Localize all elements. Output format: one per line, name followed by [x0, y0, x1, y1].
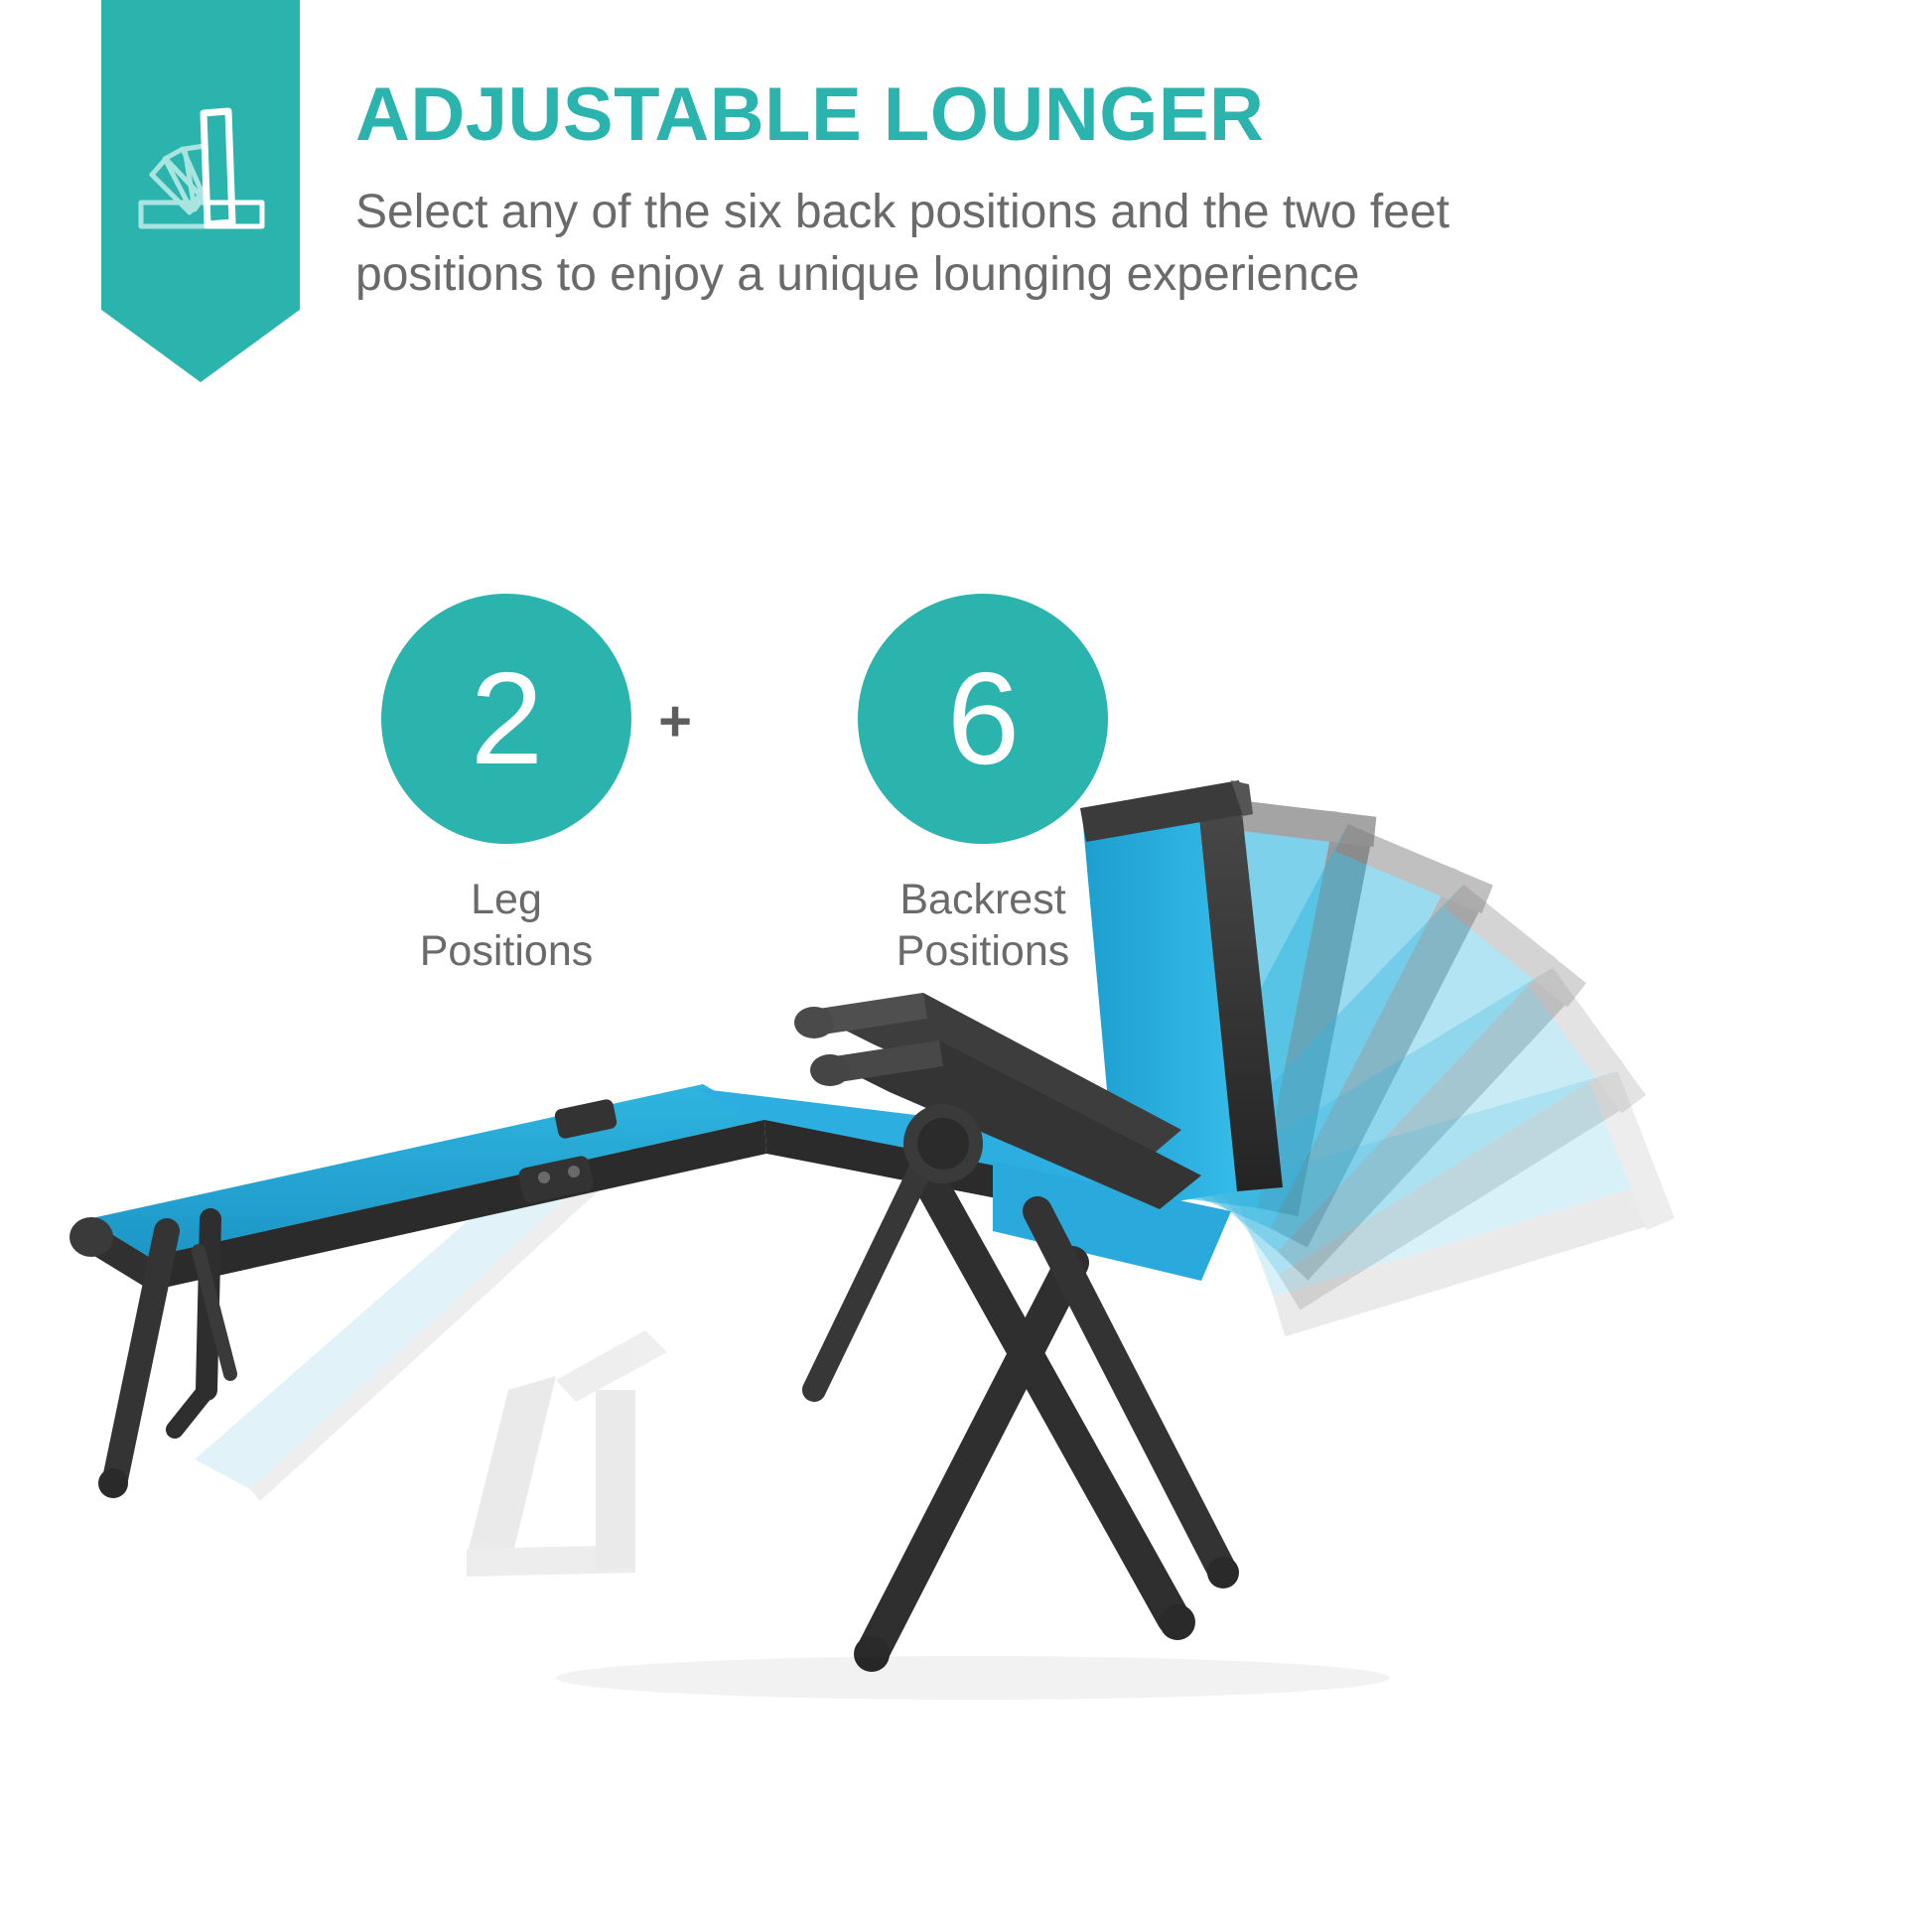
adjustable-backrest-fan-icon: [121, 91, 280, 250]
ground-shadow: [556, 1656, 1390, 1700]
page-title: ADJUSTABLE LOUNGER: [355, 77, 1264, 153]
product-image-adjustable-lounger: [0, 695, 1932, 1932]
recline-pivot-knob: [903, 1104, 983, 1183]
page-subtitle: Select any of the six back positions and…: [355, 181, 1507, 307]
